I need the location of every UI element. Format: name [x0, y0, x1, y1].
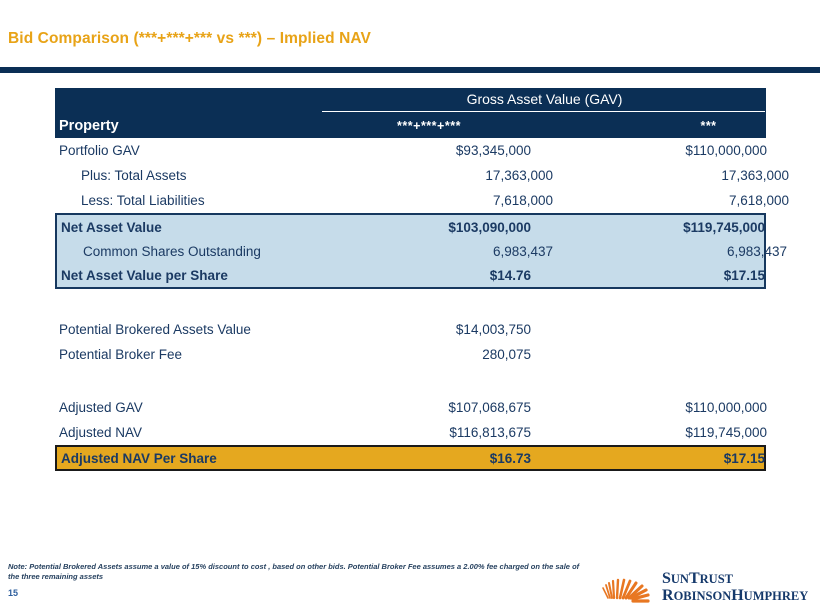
footnote: Note: Potential Brokered Assets assume a…: [8, 562, 588, 582]
table-row: Potential Broker Fee 280,075: [55, 342, 766, 367]
page-number: 15: [8, 588, 18, 598]
row-label: Potential Broker Fee: [55, 347, 327, 362]
row-value-bid-2: $119,745,000: [532, 425, 787, 440]
column-header-bid-2: ***: [591, 119, 820, 133]
logo-chars: OBINSON: [674, 589, 732, 603]
logo-char: T: [689, 570, 700, 587]
row-value-bid-1: 280,075: [327, 347, 532, 362]
row-value-bid-2: 7,618,000: [554, 193, 809, 208]
logo-char: R: [662, 587, 674, 604]
net-asset-value-block: Net Asset Value $103,090,000 $119,745,00…: [55, 213, 766, 289]
row-label: Net Asset Value per Share: [57, 268, 327, 283]
logo-line-2: ROBINSONHUMPHREY: [662, 588, 808, 605]
table-row: Common Shares Outstanding 6,983,437 6,98…: [57, 239, 764, 263]
row-value-bid-2: $17.15: [532, 451, 785, 466]
table-row: Potential Brokered Assets Value $14,003,…: [55, 317, 766, 342]
row-value-bid-2: $17.15: [532, 268, 785, 283]
row-value-bid-2: 17,363,000: [554, 168, 809, 183]
column-group-underline: [322, 111, 765, 112]
table-row: Net Asset Value $103,090,000 $119,745,00…: [57, 215, 764, 239]
table-section-broker: Potential Brokered Assets Value $14,003,…: [55, 317, 766, 367]
row-value-bid-1: 6,983,437: [349, 244, 554, 259]
table-row: Adjusted NAV Per Share $16.73 $17.15: [57, 447, 764, 469]
row-label: Adjusted GAV: [55, 400, 327, 415]
row-label: Potential Brokered Assets Value: [55, 322, 327, 337]
row-value-bid-1: 7,618,000: [349, 193, 554, 208]
table-header-row: Property ***+***+*** ***: [55, 114, 766, 138]
sunburst-icon: [600, 568, 660, 608]
row-value-bid-1: $116,813,675: [327, 425, 532, 440]
row-value-bid-1: $16.73: [327, 451, 532, 466]
table-row: Net Asset Value per Share $14.76 $17.15: [57, 263, 764, 287]
row-value-bid-1: $103,090,000: [327, 220, 532, 235]
row-value-bid-1: $14,003,750: [327, 322, 532, 337]
table-row: Portfolio GAV $93,345,000 $110,000,000: [55, 138, 766, 163]
implied-nav-table: Gross Asset Value (GAV) Property ***+***…: [55, 88, 766, 471]
adjusted-nav-per-share-block: Adjusted NAV Per Share $16.73 $17.15: [55, 445, 766, 471]
row-value-bid-1: $93,345,000: [327, 143, 532, 158]
row-label: Adjusted NAV Per Share: [57, 451, 327, 466]
table-header: Gross Asset Value (GAV) Property ***+***…: [55, 88, 766, 138]
suntrust-robinson-humphrey-logo: SUNTRUST ROBINSONHUMPHREY: [600, 568, 815, 612]
table-row: Less: Total Liabilities 7,618,000 7,618,…: [55, 188, 766, 213]
row-value-bid-1: $107,068,675: [327, 400, 532, 415]
row-value-bid-2: $119,745,000: [532, 220, 785, 235]
logo-chars: RUST: [700, 572, 733, 586]
logo-char: S: [662, 570, 671, 587]
section-spacer: [55, 367, 766, 395]
row-label: Common Shares Outstanding: [57, 244, 349, 259]
logo-char: H: [731, 587, 743, 604]
table-row: Adjusted NAV $116,813,675 $119,745,000: [55, 420, 766, 445]
row-label: Adjusted NAV: [55, 425, 327, 440]
section-spacer: [55, 289, 766, 317]
row-label: Less: Total Liabilities: [55, 193, 349, 208]
row-label: Plus: Total Assets: [55, 168, 349, 183]
column-group-header-gav: Gross Asset Value (GAV): [323, 91, 766, 107]
page-title: Bid Comparison (***+***+*** vs ***) – Im…: [8, 30, 371, 48]
row-value-bid-1: $14.76: [327, 268, 532, 283]
logo-wordmark: SUNTRUST ROBINSONHUMPHREY: [662, 571, 808, 605]
row-value-bid-2: 6,983,437: [554, 244, 807, 259]
title-divider: [0, 66, 820, 73]
column-header-property: Property: [55, 118, 327, 134]
row-label: Net Asset Value: [57, 220, 327, 235]
row-value-bid-2: $110,000,000: [532, 143, 787, 158]
logo-chars: UMPHREY: [744, 589, 809, 603]
row-label: Portfolio GAV: [55, 143, 327, 158]
row-value-bid-1: 17,363,000: [349, 168, 554, 183]
table-row: Plus: Total Assets 17,363,000 17,363,000: [55, 163, 766, 188]
table-section-adjusted: Adjusted GAV $107,068,675 $110,000,000 A…: [55, 395, 766, 445]
row-value-bid-2: $110,000,000: [532, 400, 787, 415]
table-row: Adjusted GAV $107,068,675 $110,000,000: [55, 395, 766, 420]
table-section-gav: Portfolio GAV $93,345,000 $110,000,000 P…: [55, 138, 766, 213]
logo-line-1: SUNTRUST: [662, 571, 808, 588]
column-header-bid-1: ***+***+***: [327, 119, 591, 133]
logo-chars: UN: [671, 572, 689, 586]
